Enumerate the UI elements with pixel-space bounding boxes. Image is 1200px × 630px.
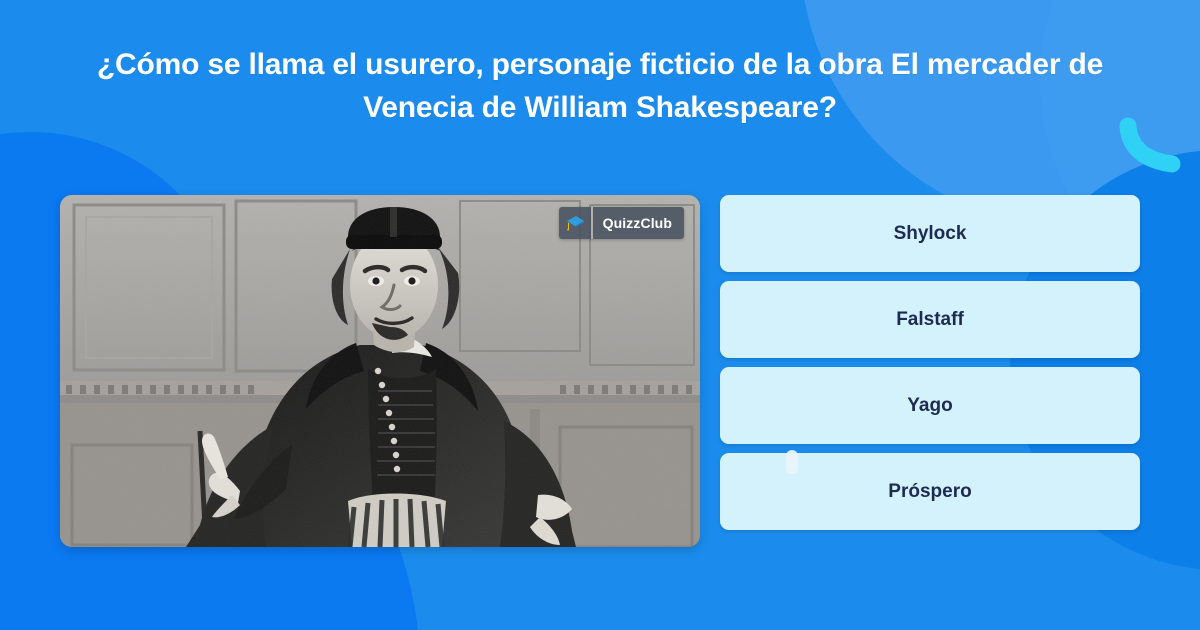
answer-option-3[interactable]: Yago (720, 367, 1140, 444)
shylock-portrait-image (60, 195, 700, 547)
answer-option-4[interactable]: Próspero (720, 453, 1140, 530)
answer-option-1[interactable]: Shylock (720, 195, 1140, 272)
answer-option-1-label: Shylock (894, 223, 967, 245)
quizzclub-logo-text: QuizzClub (593, 207, 684, 239)
question-text: ¿Cómo se llama el usurero, personaje fic… (50, 44, 1150, 129)
question-image-card: QuizzClub (60, 195, 700, 547)
quiz-card: ¿Cómo se llama el usurero, personaje fic… (0, 0, 1200, 630)
answer-option-3-label: Yago (907, 395, 952, 417)
answer-option-2-label: Falstaff (896, 309, 964, 331)
text-cursor-indicator (786, 450, 798, 474)
graduation-cap-icon (559, 207, 591, 239)
answer-option-4-label: Próspero (888, 481, 971, 503)
quizzclub-logo-badge[interactable]: QuizzClub (559, 207, 684, 239)
answer-option-2[interactable]: Falstaff (720, 281, 1140, 358)
answer-options-list: Shylock Falstaff Yago Próspero (720, 195, 1140, 530)
